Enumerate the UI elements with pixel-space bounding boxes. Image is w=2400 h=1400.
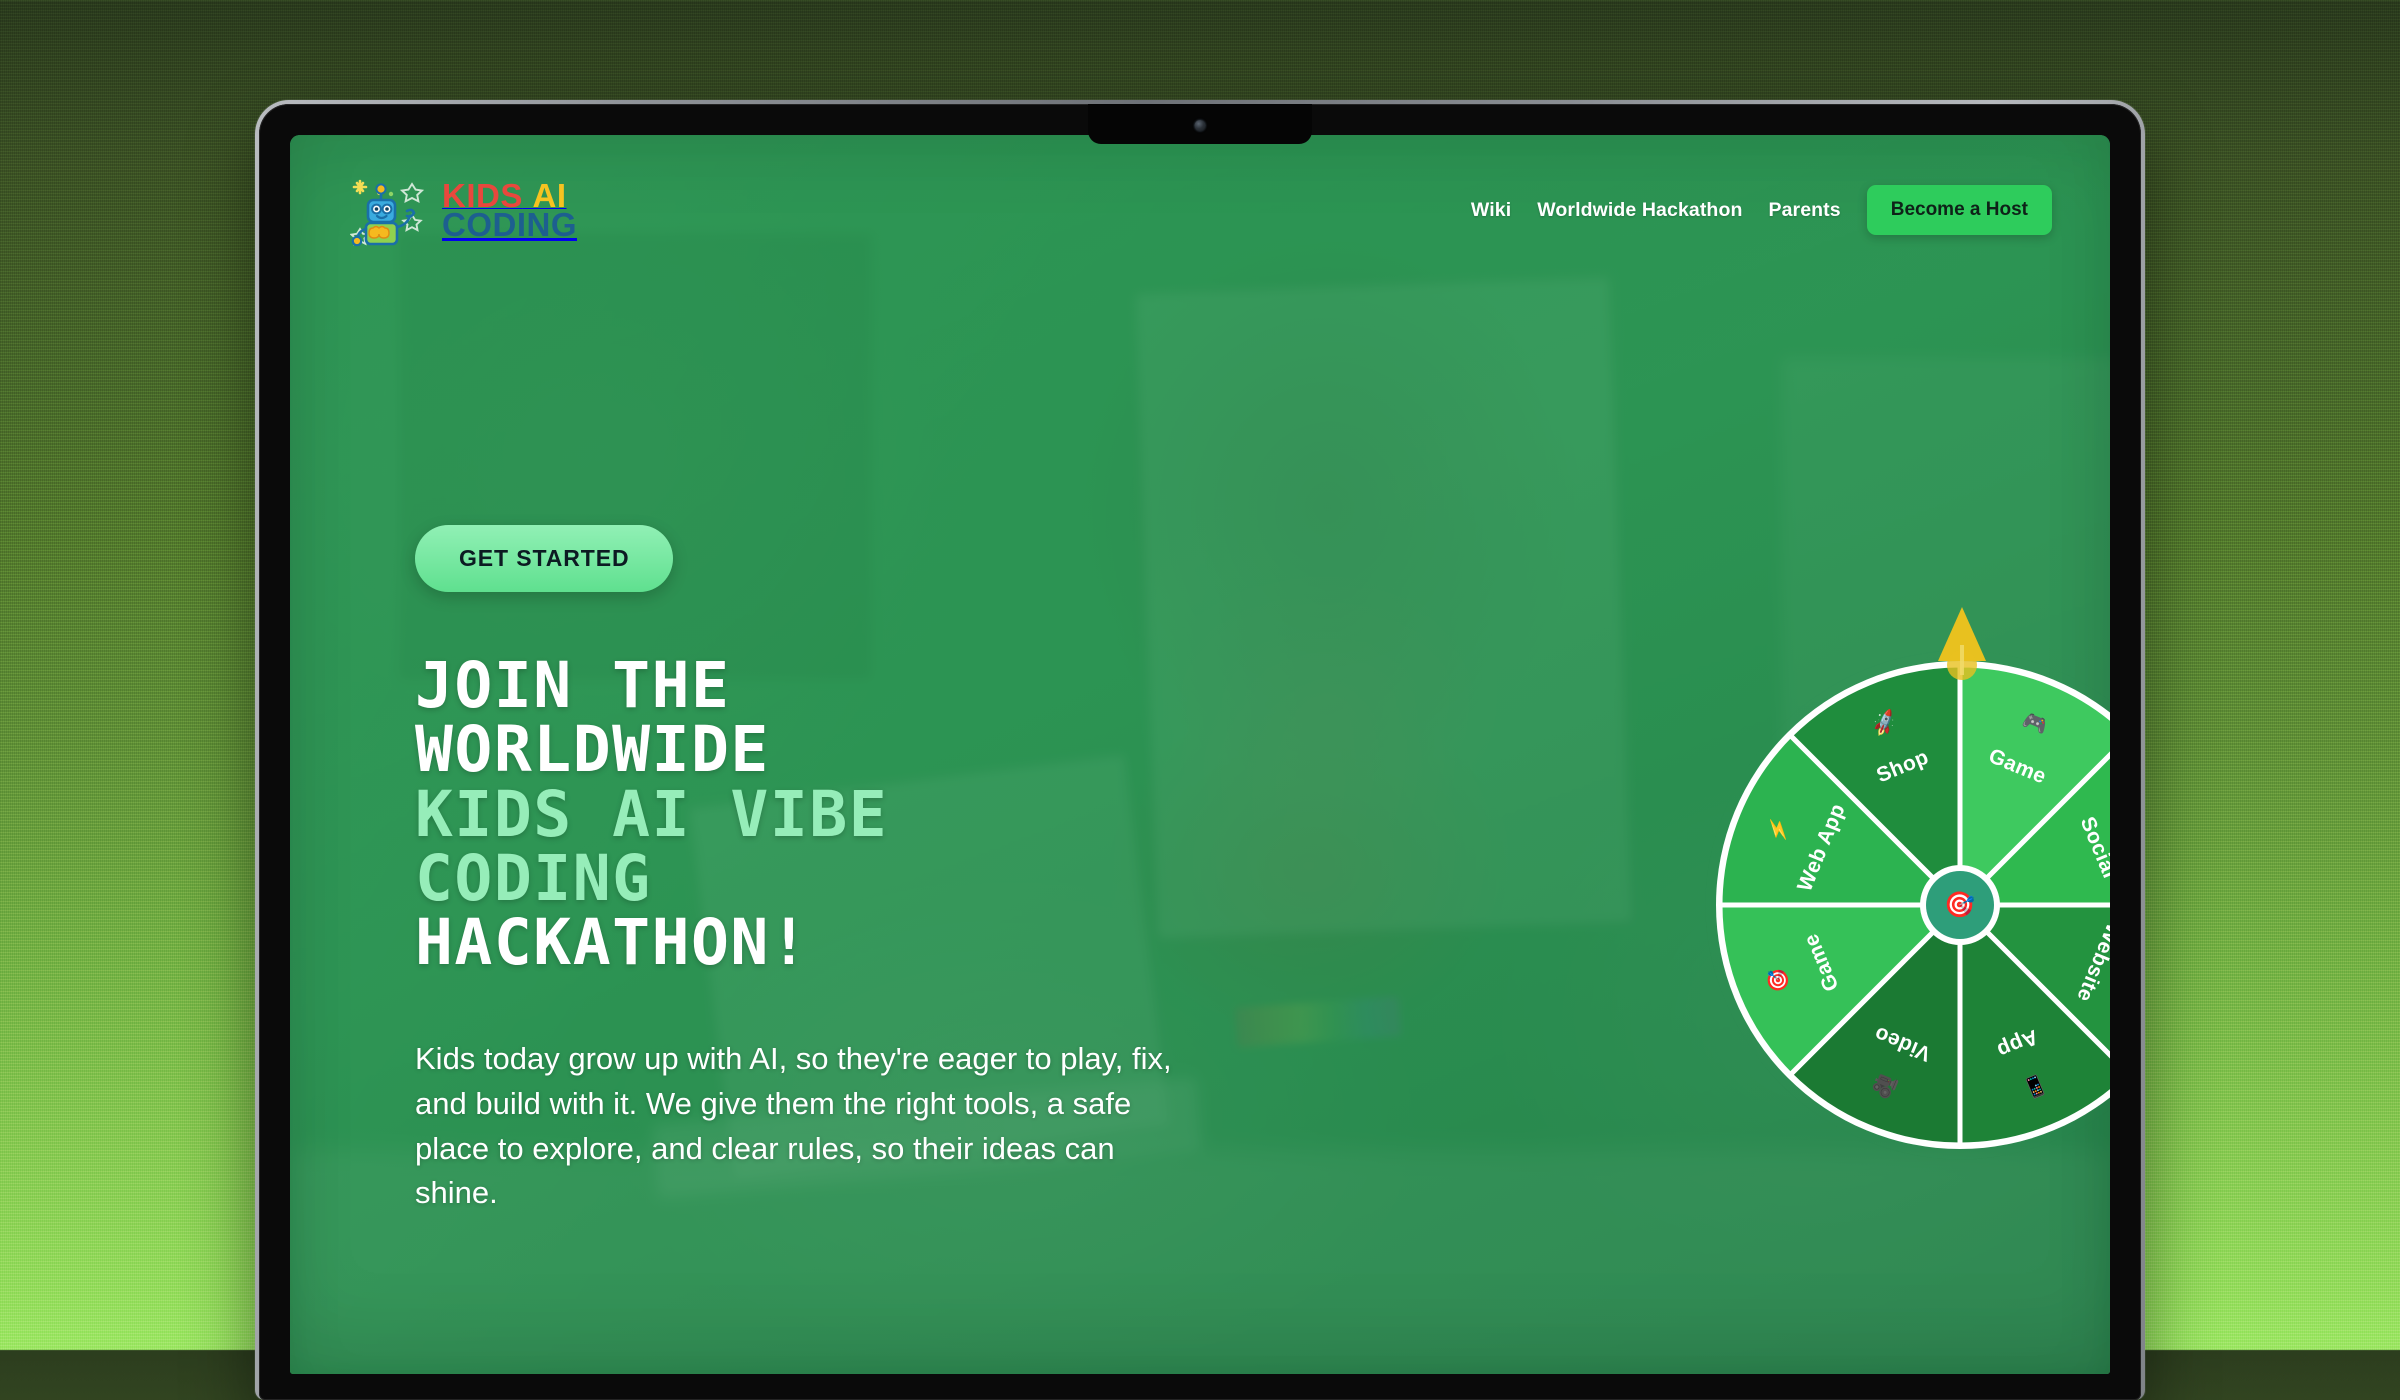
prize-wheel[interactable]: Game🎮Social📓Website🌐App📱Video🎥Game🎯Web A… [1682,615,2110,1175]
webcam-icon [1195,120,1206,131]
headline-line-3: KIDS AI VIBE [415,783,1295,847]
headline-line-4: CODING [415,847,1295,911]
logo-wordmark: KIDS AI CODING [442,181,577,239]
laptop-mockup: KIDS AI CODING Wiki Worldwide Hackathon … [255,100,2145,1400]
wheel-pointer-icon [1931,603,1993,692]
site-header: KIDS AI CODING Wiki Worldwide Hackathon … [290,135,2110,285]
wordmark-coding: CODING [442,210,577,239]
site-logo[interactable]: KIDS AI CODING [350,167,577,254]
headline-line-5: HACKATHON! [415,911,1295,975]
wheel-disc[interactable]: Game🎮Social📓Website🌐App📱Video🎥Game🎯Web A… [1712,657,2110,1153]
hero-headline: JOIN THE WORLDWIDE KIDS AI VIBE CODING H… [415,654,1295,975]
headline-line-1: JOIN THE [415,654,1295,718]
hero-text-column: GET STARTED JOIN THE WORLDWIDE KIDS AI V… [415,525,1295,1216]
main-navigation: Wiki Worldwide Hackathon Parents Become … [1471,185,2052,235]
hero-section: GET STARTED JOIN THE WORLDWIDE KIDS AI V… [290,285,2110,1374]
become-a-host-button[interactable]: Become a Host [1867,185,2052,235]
browser-viewport: KIDS AI CODING Wiki Worldwide Hackathon … [290,135,2110,1374]
robot-icon [350,167,428,254]
nav-link-worldwide-hackathon[interactable]: Worldwide Hackathon [1537,199,1742,222]
nav-link-wiki[interactable]: Wiki [1471,199,1511,222]
hero-paragraph: Kids today grow up with AI, so they're e… [415,1037,1195,1216]
get-started-button[interactable]: GET STARTED [415,525,673,592]
laptop-notch [1088,104,1312,144]
nav-link-parents[interactable]: Parents [1768,199,1840,222]
wheel-hub-emoji: 🎯 [1944,891,1975,919]
headline-line-2: WORLDWIDE [415,718,1295,782]
laptop-bezel: KIDS AI CODING Wiki Worldwide Hackathon … [259,104,2141,1400]
